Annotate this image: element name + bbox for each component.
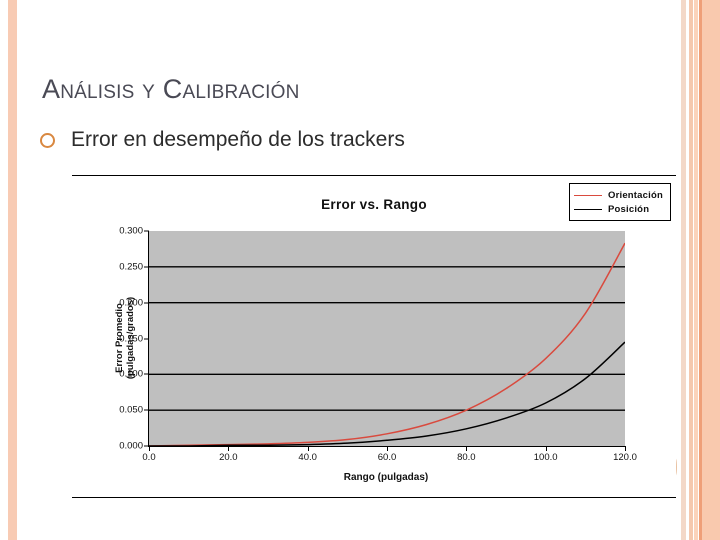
chart-x-axis-title: Rango (pulgadas) — [148, 472, 624, 483]
chart-series-line-1 — [149, 243, 625, 446]
y-axis-tick-label: 0.000 — [119, 441, 143, 452]
chart-series-line-2 — [149, 342, 625, 446]
x-axis-tick-mark — [149, 446, 150, 451]
left-accent-bar — [8, 0, 17, 540]
legend-label-orientacion: Orientación — [608, 190, 663, 201]
y-axis-tick-label: 0.250 — [119, 261, 143, 272]
legend-swatch-icon — [574, 195, 602, 196]
y-axis-tick-label: 0.100 — [119, 369, 143, 380]
y-axis-tick-label: 0.200 — [119, 297, 143, 308]
legend-item-orientacion: Orientación — [574, 188, 663, 202]
x-axis-tick-label: 60.0 — [378, 452, 397, 463]
bullet-item-label: Error en desempeño de los trackers — [71, 128, 405, 152]
slide-canvas: Análisis y Calibración Error en desempeñ… — [0, 0, 720, 540]
slide-title: Análisis y Calibración — [42, 74, 300, 105]
x-axis-tick-label: 40.0 — [298, 452, 317, 463]
y-axis-tick-mark — [144, 410, 149, 411]
y-axis-tick-mark — [144, 374, 149, 375]
x-axis-tick-label: 80.0 — [457, 452, 476, 463]
legend-label-posicion: Posición — [608, 204, 649, 215]
x-axis-tick-mark — [387, 446, 388, 451]
y-axis-tick-label: 0.300 — [119, 226, 143, 237]
legend-item-posicion: Posición — [574, 202, 663, 216]
chart-legend: Orientación Posición — [569, 183, 671, 221]
content-divider-bottom — [72, 497, 676, 498]
bullet-item: Error en desempeño de los trackers — [40, 128, 405, 152]
right-accent-bar-5 — [702, 0, 720, 540]
x-axis-tick-label: 100.0 — [534, 452, 558, 463]
x-axis-tick-mark — [625, 446, 626, 451]
chart-series-svg — [149, 231, 625, 446]
x-axis-tick-label: 20.0 — [219, 452, 238, 463]
chart-plot-area: 0.0000.0500.1000.1500.2000.2500.3000.020… — [148, 231, 625, 447]
right-accent-bar-1 — [681, 0, 686, 540]
right-accent-bar-3 — [694, 0, 698, 540]
legend-swatch-icon — [574, 209, 602, 210]
content-divider-top — [72, 175, 676, 176]
chart-embedded-object: Error vs. Rango Orientación Posición Err… — [72, 178, 676, 496]
y-axis-tick-mark — [144, 338, 149, 339]
y-axis-tick-label: 0.150 — [119, 333, 143, 344]
x-axis-tick-label: 0.0 — [142, 452, 155, 463]
y-axis-tick-mark — [144, 231, 149, 232]
x-axis-tick-mark — [466, 446, 467, 451]
x-axis-tick-mark — [228, 446, 229, 451]
x-axis-tick-mark — [308, 446, 309, 451]
y-axis-tick-label: 0.050 — [119, 405, 143, 416]
y-axis-tick-mark — [144, 302, 149, 303]
y-axis-tick-mark — [144, 266, 149, 267]
right-accent-bar-2 — [689, 0, 693, 540]
x-axis-tick-label: 120.0 — [613, 452, 637, 463]
x-axis-tick-mark — [546, 446, 547, 451]
ring-bullet-icon — [40, 133, 55, 148]
